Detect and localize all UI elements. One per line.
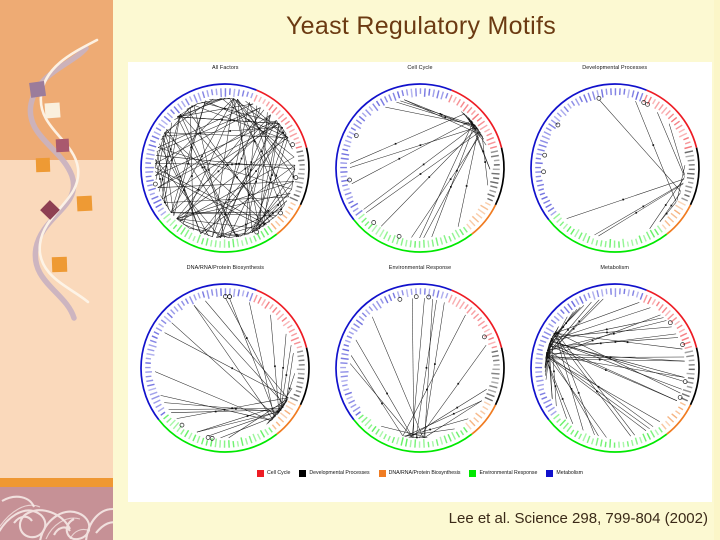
network-panel-grid: All Factors Cell Cycle Developmental Pro… [128,62,712,462]
panel-developmental-processes: Developmental Processes [517,62,712,262]
decorative-sidebar [0,0,113,540]
node-label-ring [535,288,695,448]
citation-text: Lee et al. Science 298, 799-804 (2002) [449,510,708,527]
circular-network-diagram [518,274,712,460]
panel-title: Environmental Response [323,265,518,271]
legend-item: Metabolism [546,470,583,477]
node-label-ring [340,288,500,448]
legend-item: Cell Cycle [257,470,290,477]
sidebar-paisley-pattern [0,487,113,540]
slide-right-edge [714,0,720,540]
legend-swatch [257,470,264,477]
circular-network-diagram [323,274,517,460]
node-label-ring [340,88,500,248]
slide-canvas: Yeast Regulatory Motifs All Factors Cell… [0,0,720,540]
edge-layer [350,100,490,238]
legend-item: Environmental Response [469,470,537,477]
circular-network-diagram [128,74,322,260]
legend-label: Developmental Processes [309,470,369,476]
figure-panel: All Factors Cell Cycle Developmental Pro… [128,62,712,502]
sidebar-wave-graphic [0,0,113,480]
category-arc-ring [336,284,504,452]
panel-metabolism: Metabolism [517,262,712,462]
edge-layer [155,298,295,438]
panel-title: DNA/RNA/Protein Biosynthesis [128,265,323,271]
panel-environmental-response: Environmental Response [323,262,518,462]
legend-label: DNA/RNA/Protein Biosynthesis [389,470,461,476]
edge-layer [545,299,685,437]
sidebar-gap-strip [113,0,128,540]
legend-swatch [379,470,386,477]
panel-title: Developmental Processes [517,65,712,71]
node-label-ring [146,288,306,448]
legend-swatch [469,470,476,477]
edge-layer [350,298,487,438]
legend-swatch [546,470,553,477]
legend-item: Developmental Processes [299,470,369,477]
panel-title: Metabolism [517,265,712,271]
node-marker-ring [541,96,649,173]
panel-dna-rna-protein-biosynthesis: DNA/RNA/Protein Biosynthesis [128,262,323,462]
circular-network-diagram [128,274,322,460]
node-label-ring [535,88,695,248]
legend-label: Cell Cycle [267,470,290,476]
panel-title: Cell Cycle [323,65,518,71]
circular-network-diagram [518,74,712,260]
figure-legend: Cell Cycle Developmental Processes DNA/R… [128,464,712,482]
edge-layer [155,98,295,238]
category-arc-ring [531,84,699,252]
circular-network-diagram [323,74,517,260]
sidebar-divider-rule [0,478,113,487]
node-marker-ring [180,295,232,441]
legend-swatch [299,470,306,477]
edge-layer [566,100,684,236]
legend-label: Environmental Response [479,470,537,476]
page-title: Yeast Regulatory Motifs [128,6,714,46]
legend-item: DNA/RNA/Protein Biosynthesis [379,470,461,477]
legend-label: Metabolism [556,470,583,476]
panel-all-factors: All Factors [128,62,323,262]
panel-title: All Factors [128,65,323,71]
panel-cell-cycle: Cell Cycle [323,62,518,262]
